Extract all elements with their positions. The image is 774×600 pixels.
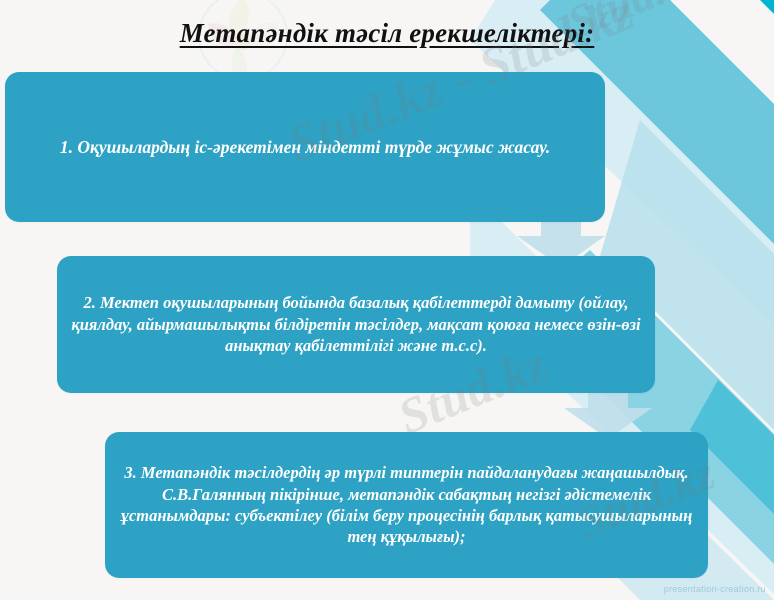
content-box-1: 1. Оқушылардың іс-әрекетімен міндетті тү… (5, 72, 605, 222)
content-box-1-text: 1. Оқушылардың іс-әрекетімен міндетті тү… (19, 136, 591, 159)
page-title: Метапәндік тәсіл ерекшеліктері: (0, 18, 774, 49)
content-box-3: 3. Метапәндік тәсілдердің әр түрлі типте… (105, 432, 708, 578)
content-box-3-text: 3. Метапәндік тәсілдердің әр түрлі типте… (119, 462, 694, 548)
content-box-2: 2. Мектеп оқушыларының бойында базалық қ… (57, 256, 655, 393)
slide-canvas: Метапәндік тәсіл ерекшеліктері: 1. Оқушы… (0, 0, 774, 600)
watermark-footer: presentation-creation.ru (664, 584, 766, 594)
content-box-2-text: 2. Мектеп оқушыларының бойында базалық қ… (71, 292, 641, 356)
